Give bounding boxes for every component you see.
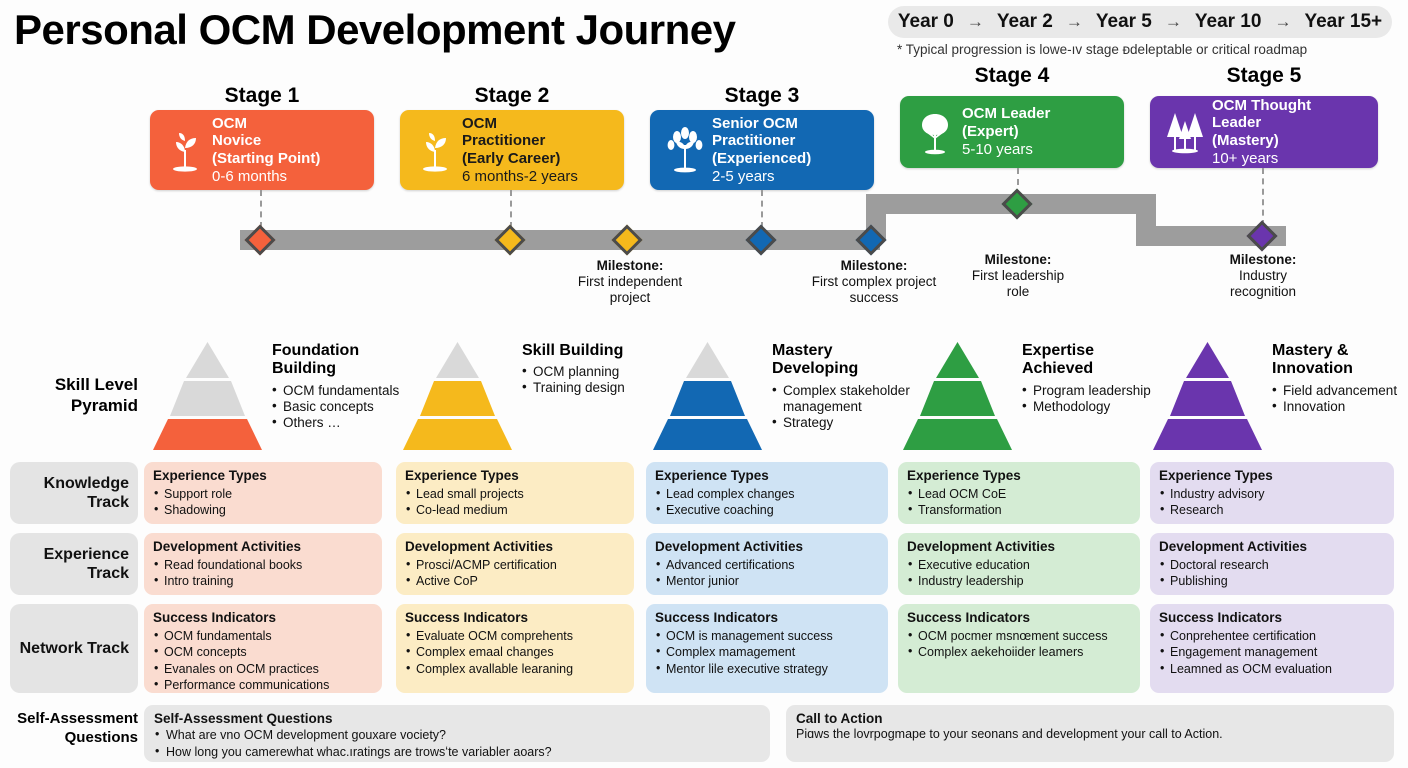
stage-duration-4: 5-10 years <box>962 141 1050 159</box>
arrow-right-icon: → <box>967 12 984 32</box>
cell-knowledge-stage2[interactable]: Experience Types Lead small projects Co-… <box>396 462 634 524</box>
pyramid-bullet: Basic concepts <box>272 399 412 415</box>
cell-bullet: Lead complex changes <box>655 486 879 503</box>
pyramid-title-4: Expertise Achieved <box>1022 342 1162 379</box>
milestone-caption-1: Milestone: First independent project <box>545 258 715 307</box>
cell-heading: Experience Types <box>405 468 625 485</box>
stage-card-text-3: Senior OCM Practitioner (Experienced) 2-… <box>712 115 811 186</box>
timeline-year-2: Year 2 <box>997 11 1053 33</box>
cell-bullet: OCM concepts <box>153 644 373 661</box>
pyramid-text-2: Skill Building OCM planning Training des… <box>522 342 662 396</box>
stage-role-2: Practitioner <box>462 132 578 150</box>
cell-heading: Development Activities <box>1159 539 1385 556</box>
pyramid-chart-5 <box>1150 340 1265 452</box>
pyramid-bullet: OCM planning <box>522 364 662 380</box>
cell-bullet: Lead small projects <box>405 486 625 503</box>
timeline-year-15: Year 15+ <box>1304 11 1382 33</box>
pyramid-bullet: Complex stakeholder management <box>772 383 912 415</box>
milestone-caption-3: Milestone: First leadership role <box>938 252 1098 301</box>
stage-title-2: OCM <box>462 115 578 133</box>
timeline-year-0: Year 0 <box>898 11 954 33</box>
cell-bullet: OCM fundamentals <box>153 628 373 645</box>
pyramid-bullet: Innovation <box>1272 399 1408 415</box>
pyramid-bullet: Field advancement <box>1272 383 1408 399</box>
cell-network-stage2[interactable]: Success Indicators Evaluate OCM comprehe… <box>396 604 634 693</box>
stage-role-1: Novice <box>212 132 320 150</box>
cell-bullet: Active CoP <box>405 573 625 590</box>
stage-heading-5: Stage 5 <box>1150 64 1378 88</box>
stage-title-4: OCM Leader <box>962 105 1050 123</box>
cell-bullet: Doctoral research <box>1159 557 1385 574</box>
pyramid-bullet: OCM fundamentals <box>272 383 412 399</box>
pyramid-chart-2 <box>400 340 515 452</box>
cell-bullets: OCM is management success Complex mamage… <box>655 628 879 678</box>
cell-heading: Development Activities <box>153 539 373 556</box>
cell-bullets: Prosci/ACMP certification Active CoP <box>405 557 625 590</box>
milestone-label-4: Milestone: <box>1230 252 1297 267</box>
cell-network-stage4[interactable]: Success Indicators OCM pocmer msnœment s… <box>898 604 1140 693</box>
pyramid-text-5: Mastery & Innovation Field advancement I… <box>1272 342 1408 415</box>
stage-heading-2: Stage 2 <box>400 84 624 108</box>
self-assessment-heading: Self-Assessment Questions <box>154 711 760 726</box>
cell-bullets: Lead OCM CoE Transformation <box>907 486 1131 519</box>
stage-card-4[interactable]: OCM Leader (Expert) 5-10 years <box>900 96 1124 168</box>
milestone-line2-3: role <box>1007 284 1030 299</box>
stage-card-2[interactable]: OCM Practitioner (Early Career) 6 months… <box>400 110 624 190</box>
stage-card-3[interactable]: Senior OCM Practitioner (Experienced) 2-… <box>650 110 874 190</box>
cell-bullets: Read foundational books Intro training <box>153 557 373 590</box>
forest-icon <box>1158 109 1212 155</box>
stage-card-1[interactable]: OCM Novice (Starting Point) 0-6 months <box>150 110 374 190</box>
cell-heading: Success Indicators <box>655 610 879 627</box>
cell-bullet: Complex aekehoiider leamers <box>907 644 1131 661</box>
cell-bullet: Performance communications <box>153 677 373 694</box>
milestone-label-3: Milestone: <box>985 252 1052 267</box>
pyramid-chart-1 <box>150 340 265 452</box>
cell-heading: Development Activities <box>655 539 879 556</box>
pyramid-title-2: Skill Building <box>522 342 662 360</box>
connector-dash-5 <box>1262 168 1264 226</box>
milestone-line1-4: Industry <box>1239 268 1287 283</box>
stage-card-text-4: OCM Leader (Expert) 5-10 years <box>962 105 1050 158</box>
row-label-experience-track: Experience Track <box>10 533 138 595</box>
timeline-year-10: Year 10 <box>1195 11 1262 33</box>
connector-dash-3 <box>761 190 763 228</box>
pyramid-bullets-3: Complex stakeholder management Strategy <box>772 383 912 431</box>
stage-title-3: Senior OCM <box>712 115 811 133</box>
milestone-label-2: Milestone: <box>841 258 908 273</box>
cell-heading: Experience Types <box>655 468 879 485</box>
cell-network-stage1[interactable]: Success Indicators OCM fundamentals OCM … <box>144 604 382 693</box>
milestone-label-1: Milestone: <box>597 258 664 273</box>
cell-heading: Success Indicators <box>405 610 625 627</box>
stage-role-3: Practitioner <box>712 132 811 150</box>
arrow-right-icon: → <box>1066 12 1083 32</box>
cell-bullets: Doctoral research Publishing <box>1159 557 1385 590</box>
stage-qualifier-4: (Expert) <box>962 123 1050 141</box>
row-label-network-track: Network Track <box>10 604 138 693</box>
tree-icon <box>908 109 962 155</box>
call-to-action-text: Piɑws the lovrpogmape to your seonans an… <box>796 726 1384 743</box>
cell-bullet: Evaluate OCM comprehents <box>405 628 625 645</box>
cell-bullet: Prosci/ACMP certification <box>405 557 625 574</box>
cell-bullet: Mentor junior <box>655 573 879 590</box>
pyramid-bullet: Methodology <box>1022 399 1162 415</box>
cell-heading: Success Indicators <box>153 610 373 627</box>
pyramid-bullet: Program leadership <box>1022 383 1162 399</box>
cell-bullets: Lead small projects Co-lead medium <box>405 486 625 519</box>
cell-bullet: Read foundational books <box>153 557 373 574</box>
cell-bullets: OCM pocmer msnœment success Complex aeke… <box>907 628 1131 661</box>
cell-bullet: Executive coaching <box>655 502 879 519</box>
cell-bullets: Industry advisory Research <box>1159 486 1385 519</box>
cell-bullet: Complex avallable learaning <box>405 661 625 678</box>
milestone-line2-1: project <box>610 290 651 305</box>
cell-bullet: Complex mamagement <box>655 644 879 661</box>
self-assessment-bullet: How long you camerewhat whac.ıratings ar… <box>154 744 760 761</box>
cell-bullet: Industry advisory <box>1159 486 1385 503</box>
cell-network-stage5[interactable]: Success Indicators Conprehentee certific… <box>1150 604 1394 693</box>
cell-experience-stage4[interactable]: Development Activities Executive educati… <box>898 533 1140 595</box>
cell-knowledge-stage1[interactable]: Experience Types Support role Shadowing <box>144 462 382 524</box>
row-label-knowledge-track: Knowledge Track <box>10 462 138 524</box>
pyramid-bullets-1: OCM fundamentals Basic concepts Others … <box>272 383 412 431</box>
cell-knowledge-stage4[interactable]: Experience Types Lead OCM CoE Transforma… <box>898 462 1140 524</box>
cell-heading: Experience Types <box>153 468 373 485</box>
stage-qualifier-1: (Starting Point) <box>212 150 320 168</box>
cell-heading: Development Activities <box>405 539 625 556</box>
arrow-right-icon: → <box>1165 12 1182 32</box>
stage-title-5: OCM Thought <box>1212 97 1311 115</box>
call-to-action-heading: Call to Action <box>796 711 1384 726</box>
cell-bullet: OCM is management success <box>655 628 879 645</box>
cell-bullet: Leamned as OCM evaluation <box>1159 661 1385 678</box>
cell-bullet: Shadowing <box>153 502 373 519</box>
stage-duration-3: 2-5 years <box>712 168 811 186</box>
cell-bullet: Conprehentee certification <box>1159 628 1385 645</box>
cell-bullet: Research <box>1159 502 1385 519</box>
self-assessment-box[interactable]: Self-Assessment Questions What are vno O… <box>144 705 770 762</box>
stage-duration-2: 6 months-2 years <box>462 168 578 186</box>
cell-heading: Experience Types <box>907 468 1131 485</box>
timeline-year-5: Year 5 <box>1096 11 1152 33</box>
pyramid-bullets-5: Field advancement Innovation <box>1272 383 1408 415</box>
stage-heading-4: Stage 4 <box>900 64 1124 88</box>
cell-bullet: Complex emaal changes <box>405 644 625 661</box>
cell-experience-stage2[interactable]: Development Activities Prosci/ACMP certi… <box>396 533 634 595</box>
cell-bullet: Evanales on OCM practices <box>153 661 373 678</box>
legend-footnote: * Typical progression is lowe-ıv stage ᴆ… <box>897 42 1307 57</box>
connector-dash-2 <box>510 190 512 228</box>
pyramid-chart-3 <box>650 340 765 452</box>
cell-knowledge-stage3[interactable]: Experience Types Lead complex changes Ex… <box>646 462 888 524</box>
cell-bullet: Co-lead medium <box>405 502 625 519</box>
pyramid-text-4: Expertise Achieved Program leadership Me… <box>1022 342 1162 415</box>
cell-bullet: Engagement management <box>1159 644 1385 661</box>
cell-heading: Success Indicators <box>1159 610 1385 627</box>
pyramid-bullet: Training design <box>522 380 662 396</box>
cell-heading: Experience Types <box>1159 468 1385 485</box>
milestone-line2-2: success <box>850 290 899 305</box>
cell-bullets: Lead complex changes Executive coaching <box>655 486 879 519</box>
arrow-right-icon: → <box>1274 12 1291 32</box>
pyramid-bullet: Others … <box>272 415 412 431</box>
page-title: Personal OCM Development Journey <box>14 6 736 54</box>
stage-qualifier-5: (Mastery) <box>1212 132 1311 150</box>
stage-role-5: Leader <box>1212 114 1311 132</box>
cell-bullet: Executive education <box>907 557 1131 574</box>
cell-bullet: Publishing <box>1159 573 1385 590</box>
cell-bullet: Mentor lile executive strategy <box>655 661 879 678</box>
milestone-line1-2: First complex project <box>812 274 937 289</box>
pyramid-title-1: Foundation Building <box>272 342 412 379</box>
tree-sapling-icon <box>658 127 712 173</box>
cell-bullet: Transformation <box>907 502 1131 519</box>
cell-knowledge-stage5[interactable]: Experience Types Industry advisory Resea… <box>1150 462 1394 524</box>
timeline-rail-lower <box>240 230 880 250</box>
milestone-caption-4: Milestone: Industry recognition <box>1190 252 1336 301</box>
pyramid-title-3: Mastery Developing <box>772 342 912 379</box>
connector-dash-1 <box>260 190 262 228</box>
cell-bullets: Advanced certifications Mentor junior <box>655 557 879 590</box>
stage-heading-3: Stage 3 <box>650 84 874 108</box>
stage-title-1: OCM <box>212 115 320 133</box>
milestone-line1-1: First independent <box>578 274 682 289</box>
self-assessment-side-label: Self-Assessment Questions <box>0 710 138 748</box>
cell-bullet: Intro training <box>153 573 373 590</box>
cell-bullet: OCM pocmer msnœment success <box>907 628 1131 645</box>
cell-bullet: Industry leadership <box>907 573 1131 590</box>
cell-heading: Development Activities <box>907 539 1131 556</box>
cell-experience-stage1[interactable]: Development Activities Read foundational… <box>144 533 382 595</box>
cell-bullets: Executive education Industry leadership <box>907 557 1131 590</box>
cell-bullets: OCM fundamentals OCM concepts Evanales o… <box>153 628 373 694</box>
seedling-icon <box>158 128 212 172</box>
cell-bullet: Support role <box>153 486 373 503</box>
pyramid-bullet: Strategy <box>772 415 912 431</box>
stage-card-5[interactable]: OCM Thought Leader (Mastery) 10+ years <box>1150 96 1378 168</box>
self-assessment-bullet: What are vno OCM development gouxare voc… <box>154 727 760 744</box>
skill-level-pyramid-label: Skill Level Pyramid <box>12 374 138 417</box>
stage-card-text-1: OCM Novice (Starting Point) 0-6 months <box>212 115 320 186</box>
cell-bullet: Advanced certifications <box>655 557 879 574</box>
cell-network-stage3[interactable]: Success Indicators OCM is management suc… <box>646 604 888 693</box>
pyramid-text-3: Mastery Developing Complex stakeholder m… <box>772 342 912 431</box>
stage-card-text-5: OCM Thought Leader (Mastery) 10+ years <box>1212 97 1311 168</box>
stage-duration-1: 0-6 months <box>212 168 320 186</box>
pyramid-bullets-4: Program leadership Methodology <box>1022 383 1162 415</box>
cell-bullets: Evaluate OCM comprehents Complex emaal c… <box>405 628 625 678</box>
pyramid-text-1: Foundation Building OCM fundamentals Bas… <box>272 342 412 431</box>
self-assessment-bullets: What are vno OCM development gouxare voc… <box>154 727 760 761</box>
cell-experience-stage3[interactable]: Development Activities Advanced certific… <box>646 533 888 595</box>
cell-bullets: Support role Shadowing <box>153 486 373 519</box>
timeline-legend: Year 0 → Year 2 → Year 5 → Year 10 → Yea… <box>888 6 1392 38</box>
cell-bullets: Conprehentee certification Engagement ma… <box>1159 628 1385 678</box>
call-to-action-box[interactable]: Call to Action Piɑws the lovrpogmape to … <box>786 705 1394 762</box>
cell-heading: Success Indicators <box>907 610 1131 627</box>
stage-heading-1: Stage 1 <box>150 84 374 108</box>
milestone-line1-3: First leadership <box>972 268 1064 283</box>
stage-duration-5: 10+ years <box>1212 150 1311 168</box>
cell-bullet: Lead OCM CoE <box>907 486 1131 503</box>
pyramid-chart-4 <box>900 340 1015 452</box>
cell-experience-stage5[interactable]: Development Activities Doctoral research… <box>1150 533 1394 595</box>
stage-qualifier-3: (Experienced) <box>712 150 811 168</box>
stage-card-text-2: OCM Practitioner (Early Career) 6 months… <box>462 115 578 186</box>
milestone-line2-4: recognition <box>1230 284 1296 299</box>
milestone-caption-2: Milestone: First complex project success <box>786 258 962 307</box>
pyramid-bullets-2: OCM planning Training design <box>522 364 662 396</box>
pyramid-title-5: Mastery & Innovation <box>1272 342 1408 379</box>
stage-qualifier-2: (Early Career) <box>462 150 578 168</box>
seedling-icon <box>408 128 462 172</box>
